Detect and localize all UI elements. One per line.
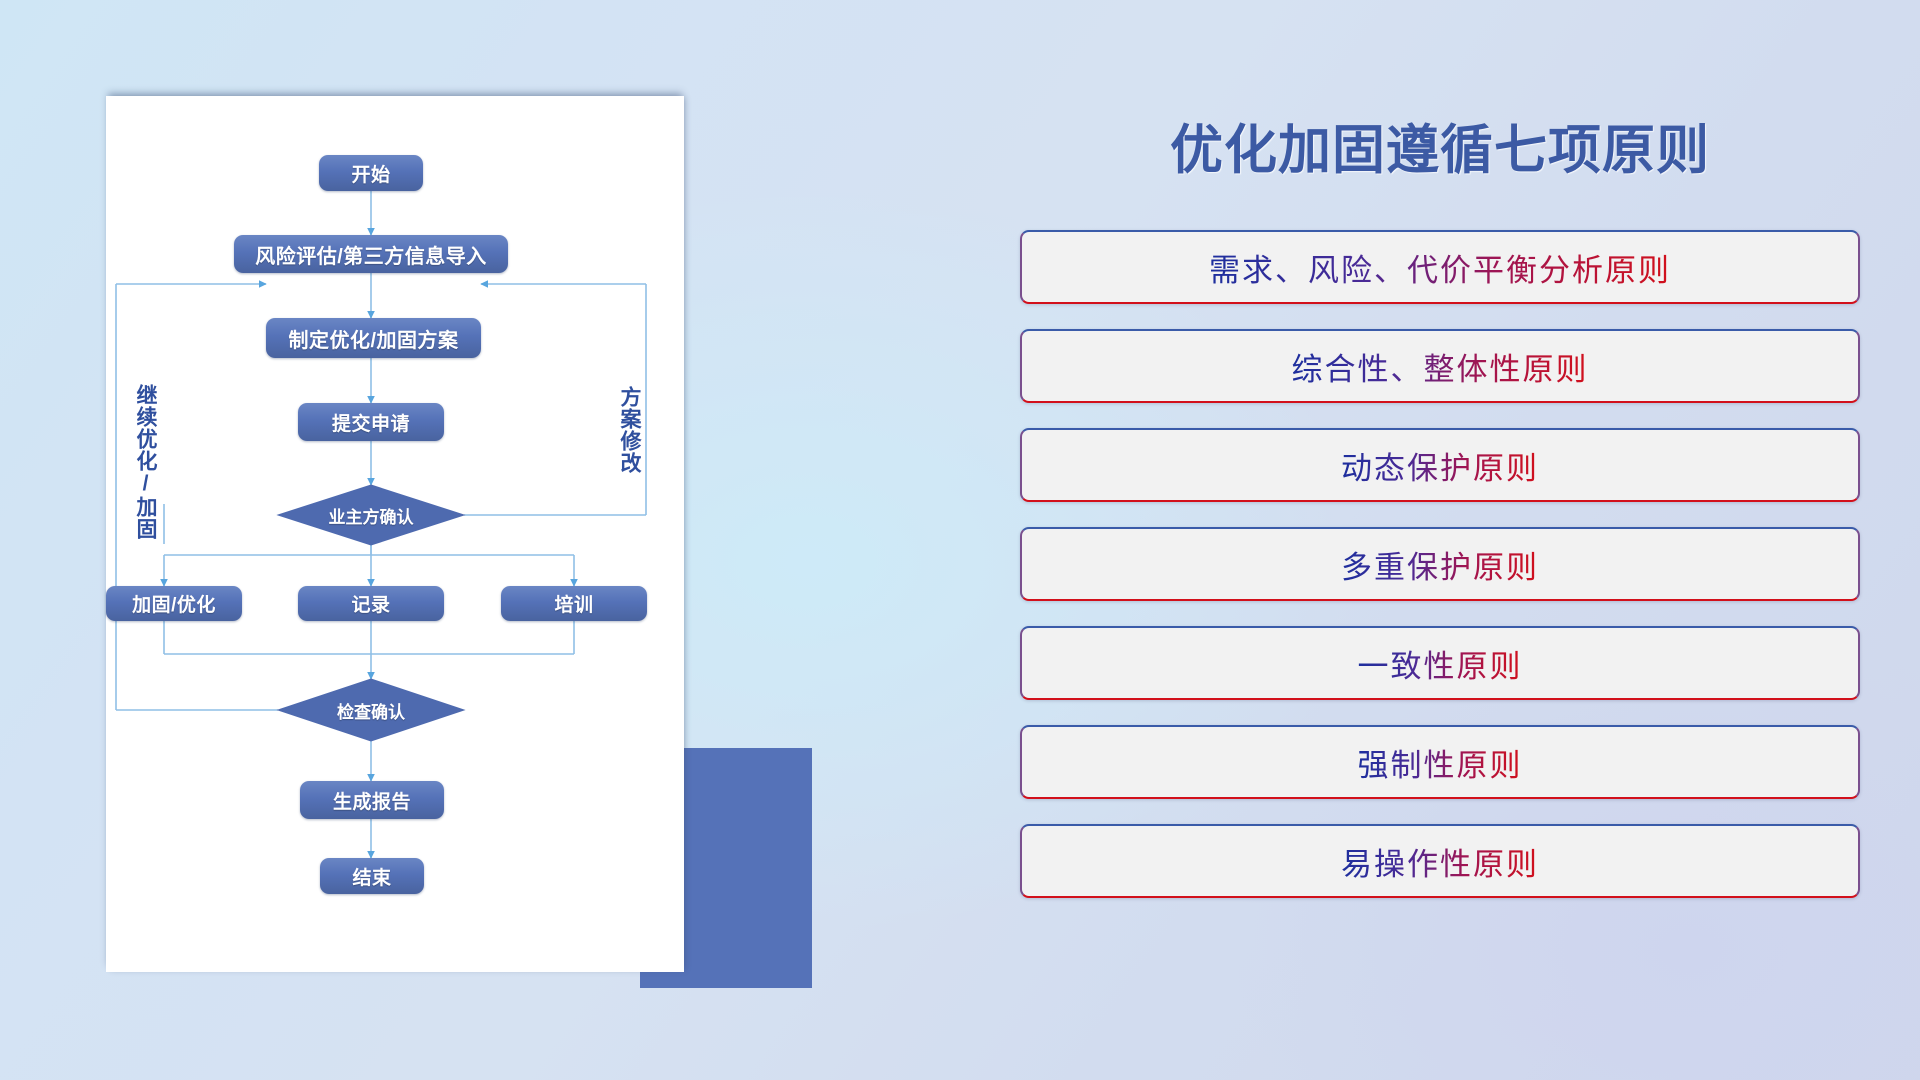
principles-panel: 优化加固遵循七项原则 需求、风险、代价平衡分析原则 综合性、整体性原则 动态保护… [1020, 0, 1860, 1080]
principle-item-6[interactable]: 强制性原则 [1020, 725, 1860, 799]
principle-item-1-label: 需求、风险、代价平衡分析原则 [1209, 245, 1671, 290]
flow-node-reinforce-label: 加固/优化 [132, 590, 216, 617]
flow-node-reinforce[interactable]: 加固/优化 [106, 586, 242, 621]
flow-node-end-label: 结束 [352, 863, 391, 890]
principle-item-5[interactable]: 一致性原则 [1020, 626, 1860, 700]
principle-item-2-label: 综合性、整体性原则 [1292, 344, 1589, 389]
principle-item-2[interactable]: 综合性、整体性原则 [1020, 329, 1860, 403]
edge-label-plan-revision: 方案修改 [614, 386, 644, 474]
principle-list: 需求、风险、代价平衡分析原则 综合性、整体性原则 动态保护原则 多重保护原则 一… [1020, 230, 1860, 923]
principle-item-6-label: 强制性原则 [1358, 740, 1523, 785]
decision-shape-owner [278, 485, 464, 545]
principle-item-3[interactable]: 动态保护原则 [1020, 428, 1860, 502]
flowchart-connectors [106, 96, 684, 972]
flow-node-report-label: 生成报告 [333, 787, 411, 814]
principle-item-5-label: 一致性原则 [1358, 641, 1523, 686]
flow-node-training-label: 培训 [554, 590, 593, 617]
principle-item-7[interactable]: 易操作性原则 [1020, 824, 1860, 898]
principle-item-3-label: 动态保护原则 [1341, 443, 1539, 488]
flow-node-report[interactable]: 生成报告 [300, 781, 444, 819]
principle-item-4[interactable]: 多重保护原则 [1020, 527, 1860, 601]
edge-label-continue-optimize: 继续优化/加固 [130, 384, 160, 540]
flow-node-plan[interactable]: 制定优化/加固方案 [266, 318, 481, 358]
principle-item-4-label: 多重保护原则 [1341, 542, 1539, 587]
flow-node-record[interactable]: 记录 [298, 586, 444, 621]
flow-node-submit[interactable]: 提交申请 [298, 403, 444, 441]
flow-node-risk-assessment-label: 风险评估/第三方信息导入 [255, 240, 487, 269]
flow-node-start[interactable]: 开始 [319, 155, 423, 191]
flow-node-training[interactable]: 培训 [501, 586, 647, 621]
flow-node-plan-label: 制定优化/加固方案 [288, 324, 458, 353]
decision-shape-check [278, 679, 464, 741]
principle-item-1[interactable]: 需求、风险、代价平衡分析原则 [1020, 230, 1860, 304]
flowchart-card: 开始 风险评估/第三方信息导入 制定优化/加固方案 提交申请 业主方确认 加固/… [106, 96, 684, 972]
flow-node-submit-label: 提交申请 [332, 409, 410, 436]
flow-node-record-label: 记录 [351, 590, 390, 617]
flow-node-start-label: 开始 [351, 160, 390, 187]
principle-item-7-label: 易操作性原则 [1341, 839, 1539, 884]
flow-node-end[interactable]: 结束 [320, 858, 424, 894]
panel-title: 优化加固遵循七项原则 [1020, 108, 1860, 184]
flow-node-risk-assessment[interactable]: 风险评估/第三方信息导入 [234, 235, 508, 273]
slide-canvas: 开始 风险评估/第三方信息导入 制定优化/加固方案 提交申请 业主方确认 加固/… [0, 0, 1920, 1080]
